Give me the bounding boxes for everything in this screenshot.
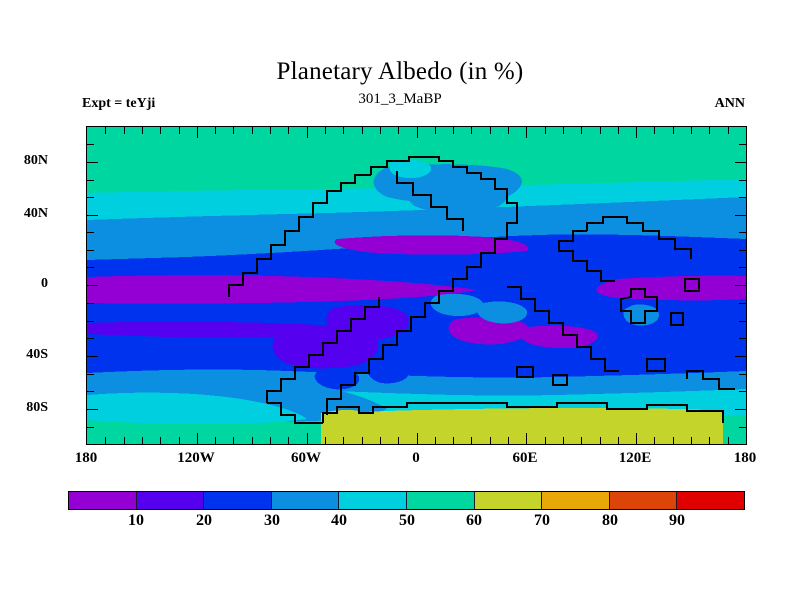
x-tick-minor [581,127,582,134]
y-tick-minor [87,250,94,251]
y-tick-minor [739,197,746,198]
y-tick-minor [739,303,746,304]
page-title: Planetary Albedo (in %) [0,58,800,86]
x-tick-minor [435,127,436,134]
colorbar [68,491,745,510]
colorbar-label-20: 20 [196,512,212,530]
x-axis-label-60w: 60W [291,450,321,467]
x-tick-minor [288,437,289,444]
x-tick-minor [142,127,143,134]
colorbar-label-50: 50 [399,512,415,530]
colorbar-band-40-50 [338,492,406,509]
x-tick-minor [124,437,125,444]
x-tick-minor [380,127,381,134]
x-tick-minor [160,437,161,444]
x-axis-label-180e: 180 [734,450,757,467]
colorbar-label-90: 90 [669,512,685,530]
x-tick-minor [600,127,601,134]
y-tick-minor [739,374,746,375]
y-axis-label-0: 0 [41,276,48,292]
x-tick-minor [728,127,729,134]
y-tick-80n [87,162,98,163]
x-tick-minor [691,437,692,444]
colorbar-band-20-30 [203,492,271,509]
x-tick-minor [471,437,472,444]
x-tick-minor [508,127,509,134]
y-tick-40s-r [735,356,746,357]
x-tick-minor [105,127,106,134]
y-axis-label-40s: 40S [26,347,48,363]
x-tick-minor [343,437,344,444]
colorbar-label-70: 70 [534,512,550,530]
y-tick-minor [87,267,94,268]
x-tick-major [307,433,308,444]
x-tick-minor [618,127,619,134]
x-tick-minor [508,437,509,444]
x-tick-major [197,433,198,444]
x-tick-minor [471,127,472,134]
x-tick-major [526,433,527,444]
y-tick-minor [87,197,94,198]
x-tick-minor [600,437,601,444]
colorbar-label-40: 40 [331,512,347,530]
albedo-contour-field [87,127,746,444]
x-tick-minor [105,437,106,444]
y-tick-minor [739,144,746,145]
x-tick-minor [453,437,454,444]
x-tick-minor [160,127,161,134]
colorbar-band-10-20 [136,492,204,509]
x-tick-major [197,127,198,138]
x-tick-minor [490,127,491,134]
x-axis-label-180w: 180 [75,450,98,467]
colorbar-label-60: 60 [466,512,482,530]
y-axis-label-80s: 80S [26,400,48,416]
experiment-label: Expt = teYji [82,96,155,112]
y-tick-minor [87,232,94,233]
y-tick-minor [87,321,94,322]
x-tick-minor [233,127,234,134]
x-tick-minor [453,127,454,134]
colorbar-band-90-100 [676,492,744,509]
x-axis-label-120w: 120W [177,450,215,467]
x-tick-minor [252,437,253,444]
y-tick-minor [739,250,746,251]
x-tick-minor [142,437,143,444]
y-tick-minor [739,391,746,392]
x-tick-minor [654,127,655,134]
x-tick-minor [728,437,729,444]
colorbar-label-30: 30 [264,512,280,530]
y-tick-minor [87,391,94,392]
x-tick-minor [325,437,326,444]
y-tick-minor [739,267,746,268]
y-axis-label-40n: 40N [24,206,48,222]
x-tick-minor [709,127,710,134]
x-tick-minor [545,437,546,444]
x-tick-major [307,127,308,138]
colorbar-band-70-80 [541,492,609,509]
x-tick-minor [691,127,692,134]
colorbar-label-80: 80 [602,512,618,530]
season-label: ANN [715,96,745,112]
x-tick-minor [343,127,344,134]
y-tick-0-r [735,285,746,286]
x-tick-minor [288,127,289,134]
colorbar-label-10: 10 [128,512,144,530]
x-tick-major [526,127,527,138]
x-tick-minor [398,437,399,444]
y-tick-80n-r [735,162,746,163]
y-axis-label-80n: 80N [24,153,48,169]
x-axis-label-60e: 60E [512,450,537,467]
x-tick-minor [179,437,180,444]
x-tick-minor [380,437,381,444]
y-tick-0 [87,285,98,286]
x-tick-minor [124,127,125,134]
x-tick-minor [563,127,564,134]
colorbar-band-80-90 [609,492,677,509]
x-tick-minor [673,437,674,444]
x-axis-label-120e: 120E [619,450,652,467]
x-tick-minor [215,127,216,134]
x-tick-minor [654,437,655,444]
y-tick-40s [87,356,98,357]
x-tick-minor [545,127,546,134]
y-tick-minor [739,427,746,428]
y-tick-minor [87,180,94,181]
y-tick-minor [87,303,94,304]
x-tick-major [417,127,418,138]
y-tick-40n [87,215,98,216]
x-tick-minor [362,127,363,134]
x-tick-minor [270,127,271,134]
colorbar-band-60-70 [474,492,542,509]
x-axis-label-0: 0 [412,450,420,467]
x-tick-minor [563,437,564,444]
colorbar-band-50-60 [406,492,474,509]
y-tick-minor [739,321,746,322]
colorbar-band-30-40 [271,492,339,509]
x-tick-minor [325,127,326,134]
y-tick-minor [739,338,746,339]
x-tick-minor [581,437,582,444]
y-tick-80s-r [735,409,746,410]
x-tick-minor [362,437,363,444]
x-tick-minor [215,437,216,444]
x-tick-minor [673,127,674,134]
x-tick-minor [233,437,234,444]
x-tick-minor [398,127,399,134]
x-tick-minor [252,127,253,134]
x-tick-major [417,433,418,444]
colorbar-band-0-10 [69,492,136,509]
y-tick-minor [739,232,746,233]
x-tick-minor [179,127,180,134]
y-tick-40n-r [735,215,746,216]
x-tick-major [636,127,637,138]
x-tick-minor [618,437,619,444]
y-tick-80s [87,409,98,410]
x-tick-minor [435,437,436,444]
y-tick-minor [87,374,94,375]
y-tick-minor [739,180,746,181]
x-tick-major [636,433,637,444]
y-tick-minor [87,144,94,145]
x-tick-minor [709,437,710,444]
y-tick-minor [87,427,94,428]
x-tick-minor [490,437,491,444]
map-plot-area [86,126,747,445]
albedo-map-figure: Planetary Albedo (in %) 301_3_MaBP Expt … [0,0,800,600]
x-tick-minor [270,437,271,444]
y-tick-minor [87,338,94,339]
